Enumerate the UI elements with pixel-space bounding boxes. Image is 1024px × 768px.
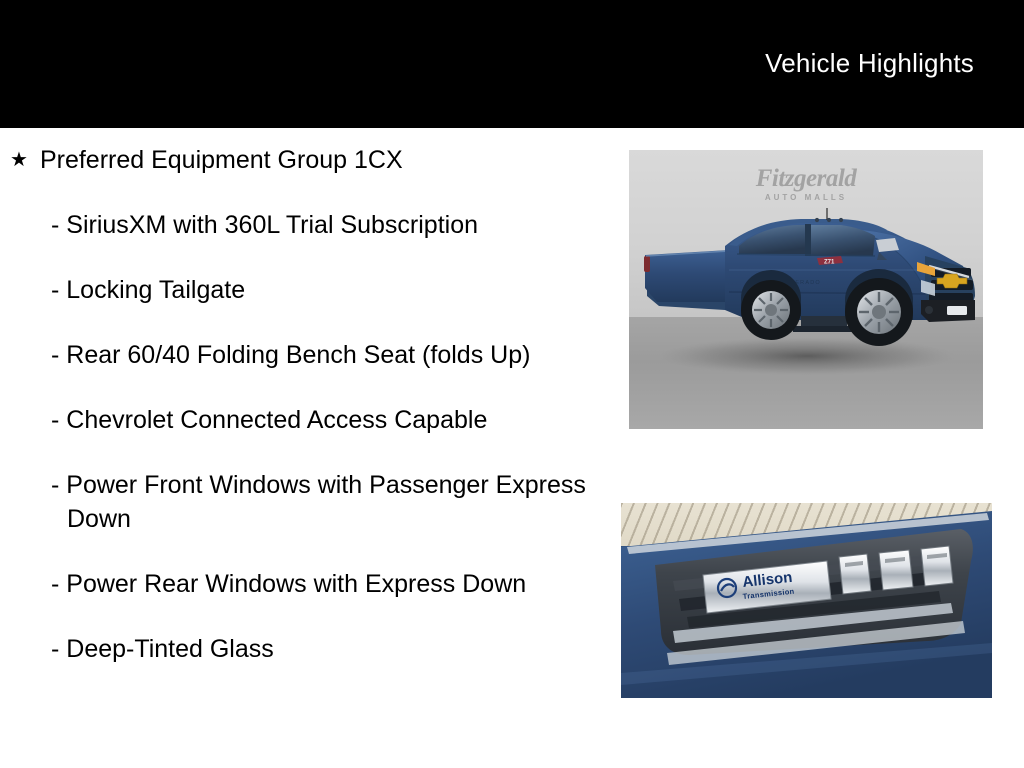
star-icon: ★ bbox=[10, 144, 28, 175]
truck-exterior-photo: Fitzgerald AUTO MALLS bbox=[629, 150, 983, 429]
page-title: Vehicle Highlights bbox=[765, 48, 974, 79]
list-item: - Rear 60/40 Folding Bench Seat (folds U… bbox=[51, 338, 591, 372]
header-banner: Vehicle Highlights bbox=[0, 0, 1024, 128]
feature-group-heading: ★ Preferred Equipment Group 1CX bbox=[10, 144, 600, 177]
feature-content-column: ★ Preferred Equipment Group 1CX - Sirius… bbox=[0, 128, 600, 768]
truck-illustration: Z71 SILVERADO bbox=[629, 150, 983, 429]
hood-vent-badge-illustration: Allison Transmission bbox=[621, 503, 992, 698]
list-item: - Power Front Windows with Passenger Exp… bbox=[51, 468, 591, 536]
feature-sub-list: - SiriusXM with 360L Trial Subscription … bbox=[10, 208, 600, 666]
allison-transmission-badge-photo: Allison Transmission bbox=[621, 503, 992, 698]
list-item: - Locking Tailgate bbox=[51, 273, 591, 307]
svg-text:Z71: Z71 bbox=[824, 260, 835, 266]
list-item: - Power Rear Windows with Express Down bbox=[51, 567, 591, 601]
list-item: - Chevrolet Connected Access Capable bbox=[51, 403, 591, 437]
vehicle-highlights-slide: Vehicle Highlights ★ Preferred Equipment… bbox=[0, 0, 1024, 768]
list-item: - Deep-Tinted Glass bbox=[51, 632, 591, 666]
list-item: - SiriusXM with 360L Trial Subscription bbox=[51, 208, 591, 242]
feature-group-heading-label: Preferred Equipment Group 1CX bbox=[40, 144, 403, 177]
